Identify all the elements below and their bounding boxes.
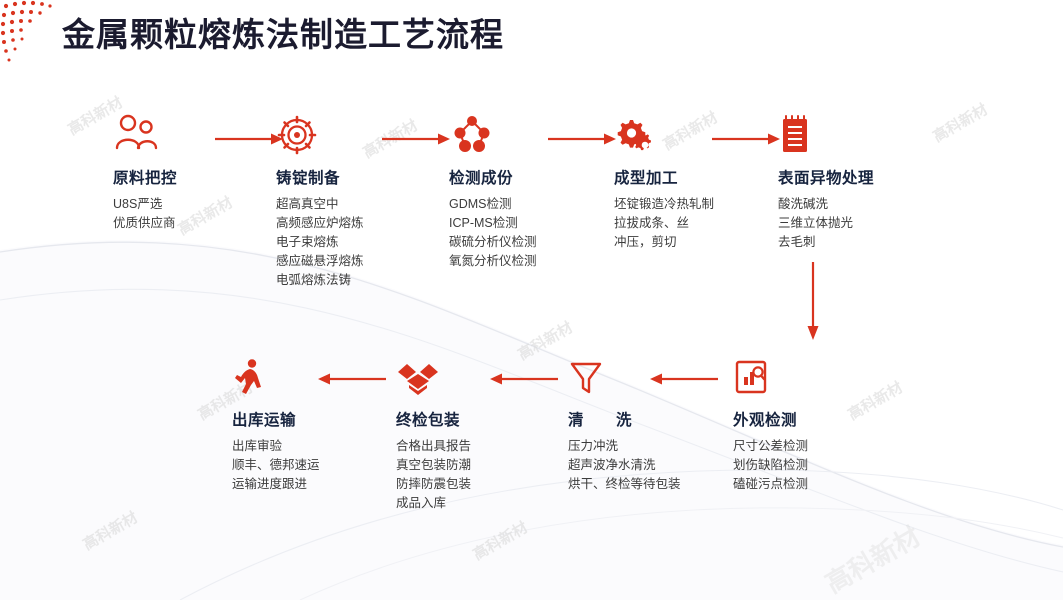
node-detail-line: 划伤缺陷检测 (733, 456, 923, 475)
node-detail-line: 顺丰、德邦速运 (232, 456, 422, 475)
inspect-box-icon (733, 352, 923, 398)
node-label: 铸锭制备 (276, 166, 466, 188)
node-label: 终检包装 (396, 408, 586, 430)
node-ingot-preparation[interactable]: 铸锭制备 超高真空中 高频感应炉熔炼 电子束熔炼 感应磁悬浮熔炼 电弧熔炼法铸 (276, 110, 466, 290)
node-detail-line: 真空包装防潮 (396, 456, 586, 475)
node-detail-line: 电弧熔炼法铸 (276, 271, 466, 290)
node-detail-line: 电子束熔炼 (276, 233, 466, 252)
arrow-surface-to-appearance (806, 262, 820, 340)
users-icon (113, 110, 303, 156)
node-raw-material-control[interactable]: 原料把控 U8S严选 优质供应商 (113, 110, 303, 233)
node-detail-line: 磕碰污点检测 (733, 475, 923, 494)
node-label: 成型加工 (614, 166, 804, 188)
molecule-icon (449, 110, 639, 156)
watermark: 高科新材 (79, 506, 141, 554)
node-detail-line: 感应磁悬浮熔炼 (276, 252, 466, 271)
node-surface-treatment[interactable]: 表面异物处理 酸洗碱洗 三维立体抛光 去毛刺 (778, 110, 968, 252)
node-appearance-inspection[interactable]: 外观检测 尺寸公差检测 划伤缺陷检测 磕碰污点检测 (733, 352, 923, 494)
open-box-icon (396, 352, 586, 398)
brand-dot-logo (0, 0, 60, 70)
runner-icon (232, 352, 422, 398)
node-detail-line: 冲压，剪切 (614, 233, 804, 252)
node-detail-line: 碳硫分析仪检测 (449, 233, 639, 252)
node-detail-line: 成品入库 (396, 494, 586, 513)
node-detail-list: 超高真空中 高频感应炉熔炼 电子束熔炼 感应磁悬浮熔炼 电弧熔炼法铸 (276, 195, 466, 290)
node-detail-list: 合格出具报告 真空包装防潮 防摔防震包装 成品入库 (396, 437, 586, 513)
node-label: 清 洗 (568, 408, 758, 430)
node-detail-line: 去毛刺 (778, 233, 968, 252)
node-detail-line: 尺寸公差检测 (733, 437, 923, 456)
node-detail-line: ICP-MS检测 (449, 214, 639, 233)
node-forming-processing[interactable]: 成型加工 坯锭锻造冷热轧制 拉拔成条、丝 冲压，剪切 (614, 110, 804, 252)
node-final-inspection-packaging[interactable]: 终检包装 合格出具报告 真空包装防潮 防摔防震包装 成品入库 (396, 352, 586, 513)
node-detail-list: U8S严选 优质供应商 (113, 195, 303, 233)
node-detail-line: 防摔防震包装 (396, 475, 586, 494)
node-detail-list: GDMS检测 ICP-MS检测 碳硫分析仪检测 氧氮分析仪检测 (449, 195, 639, 271)
watermark: 高科新材 (469, 516, 531, 564)
node-cleaning[interactable]: 清 洗 压力冲洗 超声波净水清洗 烘干、终检等待包装 (568, 352, 758, 494)
node-detail-line: 酸洗碱洗 (778, 195, 968, 214)
node-label: 外观检测 (733, 408, 923, 430)
node-detail-line: 出库审验 (232, 437, 422, 456)
gear-target-icon (276, 110, 466, 156)
node-detail-list: 压力冲洗 超声波净水清洗 烘干、终检等待包装 (568, 437, 758, 494)
node-detail-list: 酸洗碱洗 三维立体抛光 去毛刺 (778, 195, 968, 252)
node-label: 检测成份 (449, 166, 639, 188)
watermark: 高科新材 (818, 516, 927, 600)
gears-icon (614, 110, 804, 156)
node-detail-line: 坯锭锻造冷热轧制 (614, 195, 804, 214)
node-label: 出库运输 (232, 408, 422, 430)
node-label: 原料把控 (113, 166, 303, 188)
node-detail-list: 尺寸公差检测 划伤缺陷检测 磕碰污点检测 (733, 437, 923, 494)
node-label: 表面异物处理 (778, 166, 968, 188)
node-outbound-shipping[interactable]: 出库运输 出库审验 顺丰、德邦速运 运输进度跟进 (232, 352, 422, 494)
node-detail-line: 合格出具报告 (396, 437, 586, 456)
node-detail-line: 高频感应炉熔炼 (276, 214, 466, 233)
document-lines-icon (778, 110, 968, 156)
node-composition-testing[interactable]: 检测成份 GDMS检测 ICP-MS检测 碳硫分析仪检测 氧氮分析仪检测 (449, 110, 639, 271)
node-detail-line: 超高真空中 (276, 195, 466, 214)
node-detail-line: 氧氮分析仪检测 (449, 252, 639, 271)
node-detail-list: 出库审验 顺丰、德邦速运 运输进度跟进 (232, 437, 422, 494)
page-title: 金属颗粒熔炼法制造工艺流程 (62, 8, 504, 56)
node-detail-list: 坯锭锻造冷热轧制 拉拔成条、丝 冲压，剪切 (614, 195, 804, 252)
node-detail-line: GDMS检测 (449, 195, 639, 214)
node-detail-line: U8S严选 (113, 195, 303, 214)
node-detail-line: 拉拔成条、丝 (614, 214, 804, 233)
node-detail-line: 运输进度跟进 (232, 475, 422, 494)
funnel-icon (568, 352, 758, 398)
node-detail-line: 优质供应商 (113, 214, 303, 233)
node-detail-line: 三维立体抛光 (778, 214, 968, 233)
